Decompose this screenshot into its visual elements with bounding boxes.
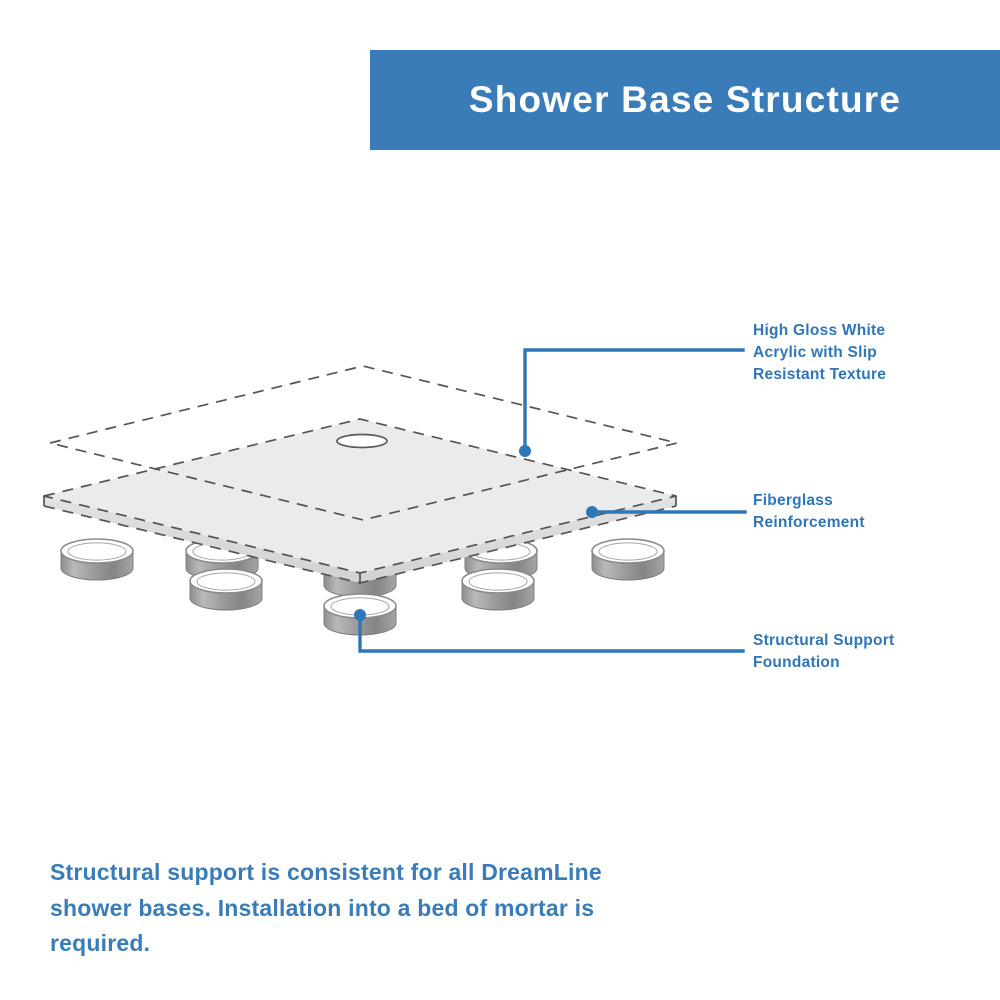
leader-fiberglass [586,506,745,518]
leader-lines [354,350,745,651]
acrylic-outline [50,366,677,520]
drain-opening-icon [337,435,387,448]
title-banner: Shower Base Structure [370,50,1000,150]
leader-acrylic [519,350,743,457]
leader-dot-fiberglass [586,506,598,518]
fiberglass-slab [44,419,676,583]
acrylic-top-plane [50,366,677,520]
support-ring [592,539,664,580]
support-ring-front [324,594,396,635]
slab-top-outline [44,419,676,573]
leader-dot-acrylic [519,445,531,457]
support-ring-group [61,539,664,635]
support-ring [186,539,258,580]
callout-label-acrylic: High Gloss White Acrylic with Slip Resis… [753,320,993,386]
slab-corner-edges [44,496,676,583]
support-ring [324,556,396,597]
support-ring [190,569,262,610]
slab-bottom-outline [44,506,676,583]
callout-label-fiberglass: Fiberglass Reinforcement [753,490,993,534]
leader-support [354,609,743,651]
bottom-caption: Structural support is consistent for all… [50,855,690,962]
support-ring [465,539,537,580]
leader-dot-support [354,609,366,621]
callout-label-support: Structural Support Foundation [753,630,993,674]
page-title: Shower Base Structure [370,79,1000,121]
support-ring [462,569,534,610]
support-ring [61,539,133,580]
